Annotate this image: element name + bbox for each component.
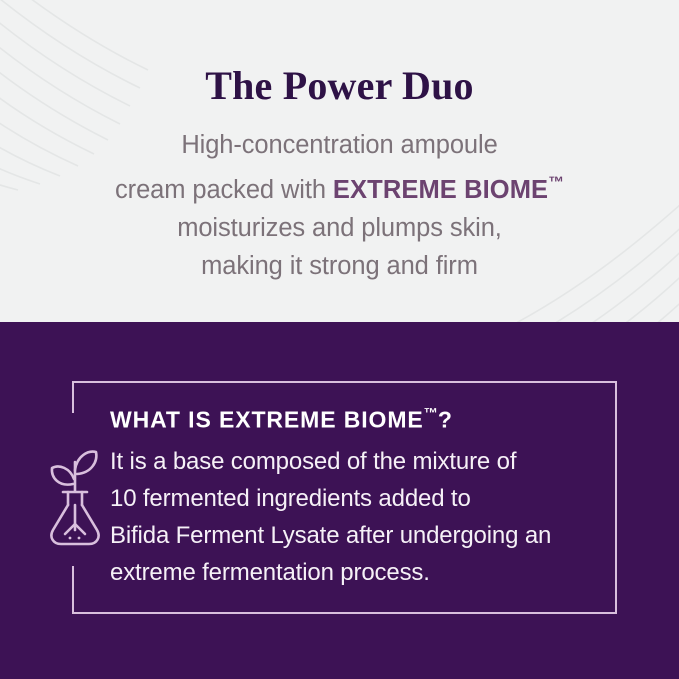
info-box-border-left-lower	[72, 566, 74, 614]
info-box-border-right	[615, 381, 617, 614]
hero-subtitle: High-concentration ampoule cream packed …	[0, 110, 679, 285]
info-box-border-bottom	[72, 612, 617, 614]
product-infographic: The Power Duo High-concentration ampoule…	[0, 0, 679, 679]
explainer-section: WHAT IS EXTREME BIOME™? It is a base com…	[0, 322, 679, 679]
info-box-border-left-upper	[72, 381, 74, 413]
page-title: The Power Duo	[0, 0, 679, 110]
info-box-text-block: WHAT IS EXTREME BIOME™? It is a base com…	[110, 399, 597, 591]
info-box-heading: WHAT IS EXTREME BIOME™?	[110, 399, 597, 434]
info-box: WHAT IS EXTREME BIOME™? It is a base com…	[72, 381, 617, 614]
trademark-symbol: ™	[548, 174, 564, 191]
hero-section: The Power Duo High-concentration ampoule…	[0, 0, 679, 322]
info-box-heading-question-mark: ?	[438, 406, 453, 432]
subtitle-line-2-prefix: cream packed with	[115, 176, 333, 204]
body-line-2: 10 fermented ingredients added to	[110, 485, 471, 512]
trademark-symbol: ™	[424, 406, 438, 422]
body-line-1: It is a base composed of the mixture of	[110, 448, 516, 475]
info-box-body: It is a base composed of the mixture of …	[110, 434, 597, 591]
info-box-heading-text: WHAT IS EXTREME BIOME	[110, 406, 424, 432]
subtitle-line-4: making it strong and firm	[201, 252, 478, 280]
subtitle-line-1: High-concentration ampoule	[181, 131, 497, 159]
info-box-border-top	[72, 381, 617, 383]
flask-sprout-icon	[44, 448, 106, 550]
brand-name-text: EXTREME BIOME	[333, 176, 548, 204]
body-line-4: extreme fermentation process.	[110, 559, 430, 586]
brand-name-extreme-biome: EXTREME BIOME™	[333, 176, 564, 204]
subtitle-line-3: moisturizes and plumps skin,	[177, 214, 502, 242]
body-line-3: Bifida Ferment Lysate after undergoing a…	[110, 522, 551, 549]
hero-text-block: The Power Duo High-concentration ampoule…	[0, 0, 679, 285]
